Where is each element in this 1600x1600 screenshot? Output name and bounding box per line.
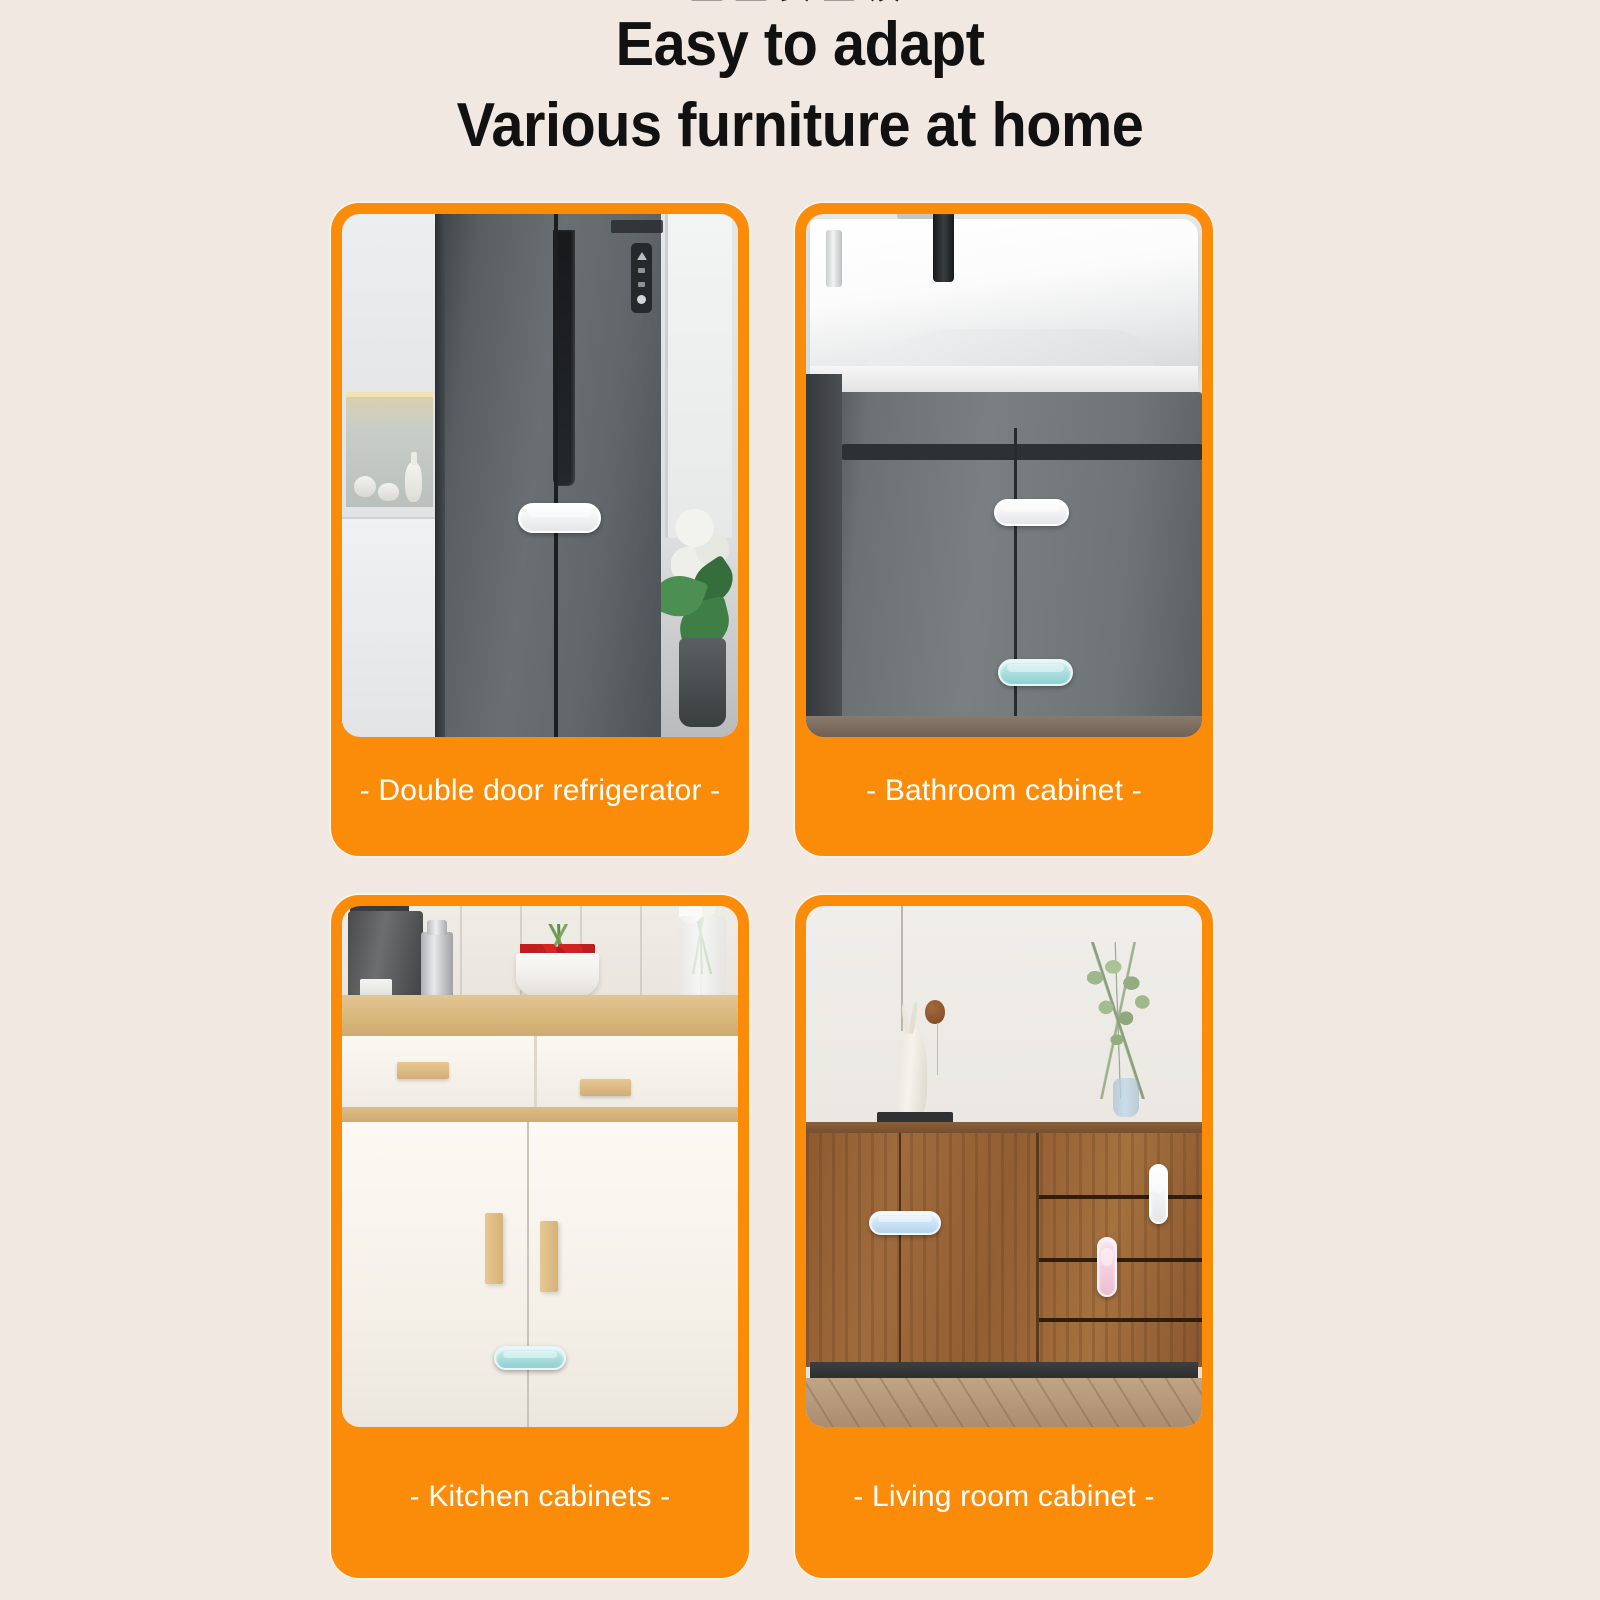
sideboard-door-gap [899,1133,901,1367]
plant-pot [679,638,727,727]
blue-glass-vase [1113,1078,1139,1117]
drawer-seam [1039,1318,1202,1322]
drawer-divider [534,1036,537,1109]
ceramic-bowl [354,476,376,498]
sideboard-body [806,1133,1202,1367]
bunny-figurine [897,1028,927,1117]
refrigerator-left-edge [435,214,445,737]
card-double-door-refrigerator[interactable]: - Double door refrigerator - [331,203,749,856]
indicator-bar-icon [638,282,645,287]
balloon-ornament [925,1000,945,1024]
furniture-card-grid: - Double door refrigerator - - Bathroom … [331,203,1213,1578]
lower-cabinet [342,517,437,737]
wood-door-handle [485,1213,503,1283]
heading-line-2: Various furniture at home [56,89,1544,162]
refrigerator-body [435,214,661,737]
bathroom-floor [806,716,1202,737]
vanity-door-gap [1014,428,1017,737]
small-vase [405,462,422,501]
refrigerator-door-gap [554,214,557,737]
wood-drawer-handle [580,1079,631,1096]
heading-line-1: Easy to adapt [56,8,1544,81]
vanity-side-panel [806,374,842,737]
black-faucet [933,214,954,282]
caption-kitchen-cabinets: - Kitchen cabinets - [342,1427,738,1567]
card-bathroom-cabinet[interactable]: - Bathroom cabinet - [795,203,1213,856]
wood-drawer-handle [397,1062,448,1079]
refrigerator-control-panel [631,243,652,314]
coffee-machine [348,911,423,1007]
wood-countertop [342,995,738,1042]
page-title: Easy to adapt Various furniture at home [0,8,1600,162]
angle-valve [826,230,842,288]
vanity-top-rail [842,444,1202,460]
child-safety-lock-white [994,499,1069,526]
child-safety-lock-blue [869,1211,940,1235]
card-living-room-cabinet[interactable]: - Living room cabinet - [795,895,1213,1578]
caption-living-room-cabinet: - Living room cabinet - [806,1427,1202,1567]
clipped-top-text: 宝宝安全锁 [0,0,1600,8]
drawer-seam [1039,1258,1202,1262]
power-button-icon [637,295,646,304]
sideboard-center-divider [1036,1133,1039,1367]
card-kitchen-cabinets[interactable]: - Kitchen cabinets - [331,895,749,1578]
wood-door-handle [540,1221,558,1291]
up-arrow-icon [637,252,647,260]
indicator-bar-icon [638,268,645,273]
herringbone-floor [806,1378,1202,1427]
photo-bathroom-cabinet [806,214,1202,737]
caption-double-door-refrigerator: - Double door refrigerator - [342,737,738,845]
branch-leaves [1075,948,1166,1083]
ceramic-bowl [378,483,400,501]
child-safety-lock-pink [1097,1237,1117,1297]
photo-kitchen-cabinets [342,906,738,1427]
photo-double-door-refrigerator [342,214,738,737]
child-safety-lock-white [1149,1164,1169,1224]
caption-bathroom-cabinet: - Bathroom cabinet - [806,737,1202,845]
photo-living-room-cabinet [806,906,1202,1427]
cabinet-door-gap [527,1122,529,1427]
child-safety-lock-white [518,503,601,533]
child-safety-lock-teal [998,659,1073,686]
glass-vase [679,916,727,1005]
brand-logo [611,220,662,233]
drawer-seam [1039,1195,1202,1199]
child-safety-lock-teal [494,1346,565,1370]
balloon-string [937,1023,939,1075]
